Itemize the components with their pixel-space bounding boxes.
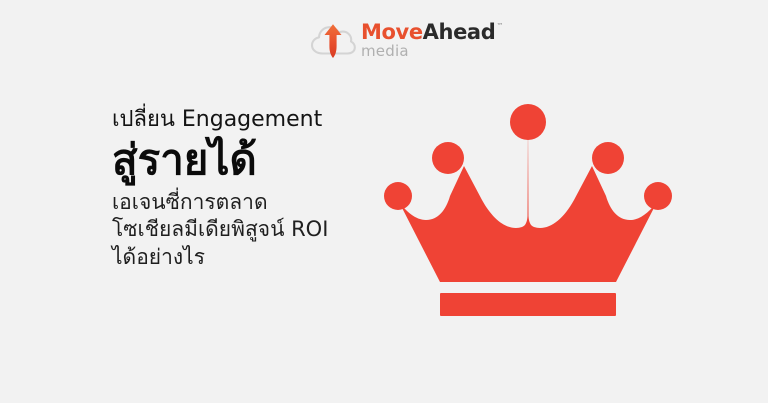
- subcopy-line-3: ได้อย่างไร: [112, 244, 392, 272]
- trademark-symbol: ™: [496, 23, 503, 30]
- crown-icon: [378, 96, 678, 316]
- subcopy-block: เอเจนซี่การตลาด โซเชียลมีเดียพิสูจน์ ROI…: [112, 189, 392, 272]
- logo-wordmark: MoveAhead™ media: [361, 22, 503, 59]
- headline-copy-block: เปลี่ยน Engagement สู่รายได้ เอเจนซี่การ…: [112, 106, 392, 272]
- page-title: สู่รายได้: [112, 136, 392, 183]
- logo-brand-ahead: Ahead: [423, 22, 496, 43]
- logo-brand-move: Move: [361, 22, 423, 43]
- kicker-text: เปลี่ยน Engagement: [112, 106, 392, 134]
- logo-brand-name: MoveAhead™: [361, 22, 503, 43]
- cloud-arrow-up-icon: [310, 21, 356, 59]
- logo-tagline: media: [361, 44, 503, 59]
- moveahead-media-logo[interactable]: MoveAhead™ media: [310, 20, 478, 60]
- subcopy-line-2: โซเชียลมีเดียพิสูจน์ ROI: [112, 216, 392, 244]
- subcopy-line-1: เอเจนซี่การตลาด: [112, 189, 392, 217]
- promo-banner: MoveAhead™ media เปลี่ยน Engagement สู่ร…: [0, 0, 768, 403]
